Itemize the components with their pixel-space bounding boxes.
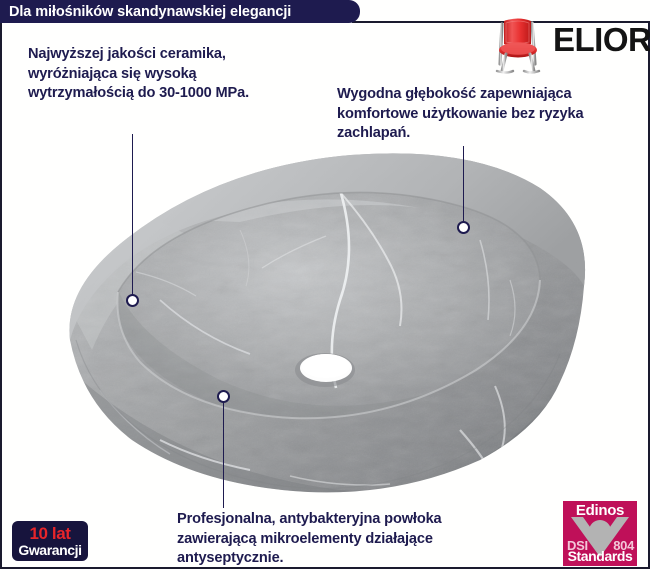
warranty-badge-label: Gwarancji (18, 543, 81, 558)
product-infographic: Dla miłośników skandynawskiej elegancji (0, 0, 650, 580)
feature-text-coating: Profesjonalna, antybakteryjna powłoka za… (177, 510, 477, 569)
frame-left-border (0, 22, 2, 568)
callout-line-coating (223, 398, 224, 508)
callout-line-ceramic (132, 134, 133, 301)
callout-dot-depth (457, 221, 470, 234)
product-image-washbasin (40, 140, 610, 510)
feature-text-ceramic: Najwyższej jakości ceramika, wyróżniając… (28, 45, 294, 104)
brand-wordmark: ELIOR (553, 23, 650, 57)
certification-badge-standards: Standards (563, 548, 637, 564)
warranty-badge: 10 lat Gwarancji (12, 521, 88, 561)
brand-logo: ELIOR (487, 14, 642, 76)
certification-badge-edinos: Edinos DSI 804 Standards (563, 501, 637, 566)
feature-text-depth: Wygodna głębokość zapewniająca komfortow… (337, 85, 625, 144)
red-chair-icon (487, 14, 549, 76)
washbasin-illustration (40, 140, 610, 510)
callout-dot-ceramic (126, 294, 139, 307)
callout-line-depth (463, 146, 464, 228)
warranty-badge-years: 10 lat (29, 525, 70, 542)
callout-dot-coating (217, 390, 230, 403)
certification-badge-title: Edinos (563, 503, 637, 519)
header-banner: Dla miłośników skandynawskiej elegancji (0, 0, 360, 23)
header-banner-text: Dla miłośników skandynawskiej elegancji (9, 4, 291, 20)
